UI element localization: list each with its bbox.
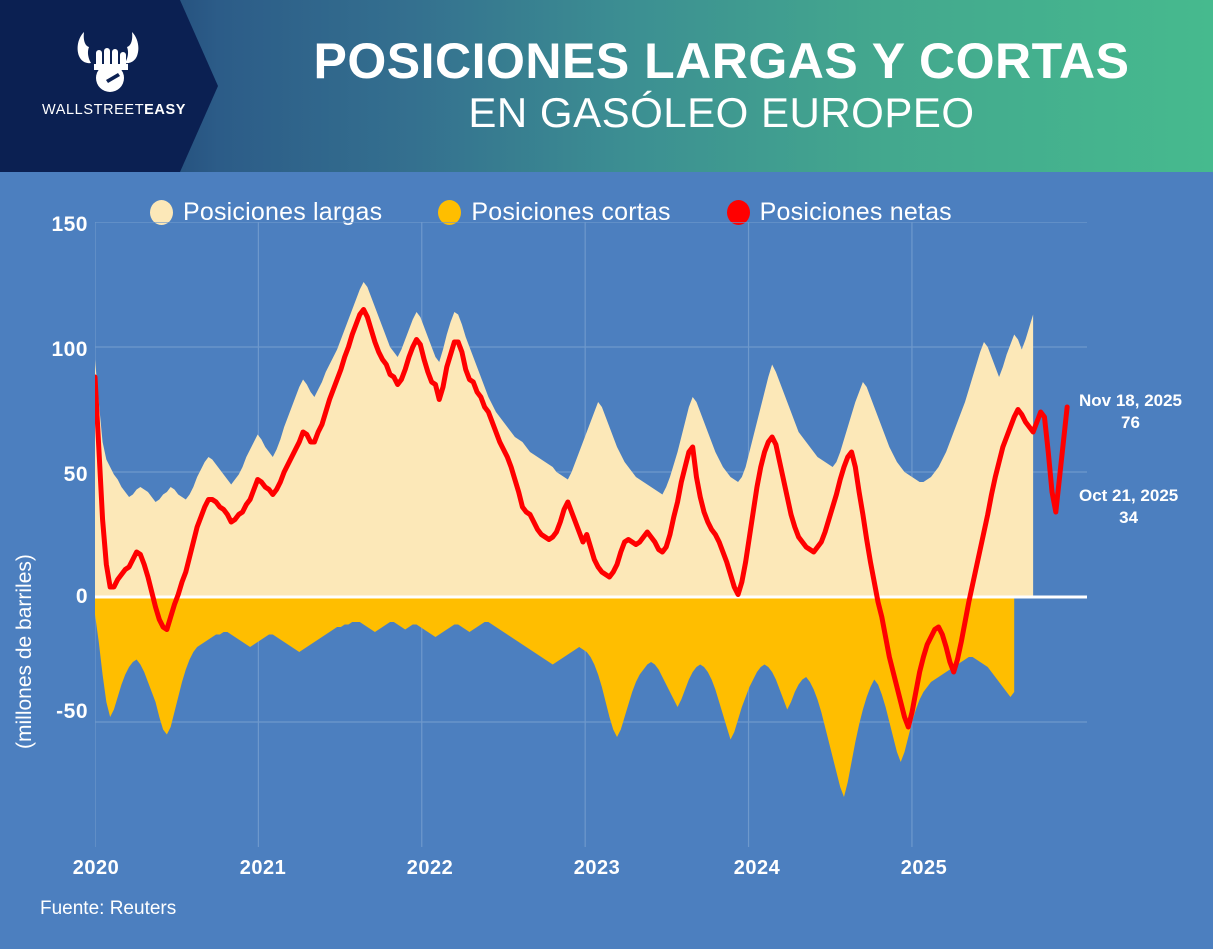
page-title: POSICIONES LARGAS Y CORTAS xyxy=(314,35,1130,87)
brand-regular: WALLSTREET xyxy=(42,102,144,118)
source-note: Fuente: Reuters xyxy=(40,898,176,920)
header-banner: WALLSTREETEASY POSICIONES LARGAS Y CORTA… xyxy=(0,0,1213,172)
annotation-previous: Oct 21, 2025 34 xyxy=(1079,485,1178,529)
brand-bold: EASY xyxy=(144,102,186,118)
x-tick-2021: 2021 xyxy=(240,857,287,880)
annotation-latest-value: 76 xyxy=(1079,412,1182,434)
x-tick-2025: 2025 xyxy=(901,857,948,880)
y-axis-ticks: 150 100 50 0 -50 xyxy=(0,172,88,949)
bull-fist-logo-icon xyxy=(68,28,148,96)
y-tick-100: 100 xyxy=(14,338,88,362)
x-tick-2020: 2020 xyxy=(73,857,120,880)
brand-wordmark: WALLSTREETEASY xyxy=(42,102,172,118)
annotation-latest-date: Nov 18, 2025 xyxy=(1079,391,1182,410)
brand-logo: WALLSTREETEASY xyxy=(42,28,172,140)
plot-area xyxy=(95,222,1087,847)
x-tick-2024: 2024 xyxy=(734,857,781,880)
annotation-previous-value: 34 xyxy=(1079,507,1178,529)
page-subtitle: EN GASÓLEO EUROPEO xyxy=(468,89,974,136)
chart-container: Posiciones largas Posiciones cortas Posi… xyxy=(0,172,1213,949)
x-tick-2022: 2022 xyxy=(407,857,454,880)
logo-panel: WALLSTREETEASY xyxy=(0,0,218,172)
series-area-short xyxy=(95,597,1014,797)
header-titles: POSICIONES LARGAS Y CORTAS EN GASÓLEO EU… xyxy=(230,0,1213,172)
annotation-latest: Nov 18, 2025 76 xyxy=(1079,390,1182,434)
y-tick-150: 150 xyxy=(14,213,88,237)
annotation-previous-date: Oct 21, 2025 xyxy=(1079,486,1178,505)
infographic-page: WALLSTREETEASY POSICIONES LARGAS Y CORTA… xyxy=(0,0,1213,949)
x-tick-2023: 2023 xyxy=(574,857,621,880)
y-tick-50: 50 xyxy=(14,463,88,487)
y-tick-0: 0 xyxy=(14,585,88,609)
series-area-long xyxy=(95,282,1033,597)
y-tick--50: -50 xyxy=(14,700,88,724)
